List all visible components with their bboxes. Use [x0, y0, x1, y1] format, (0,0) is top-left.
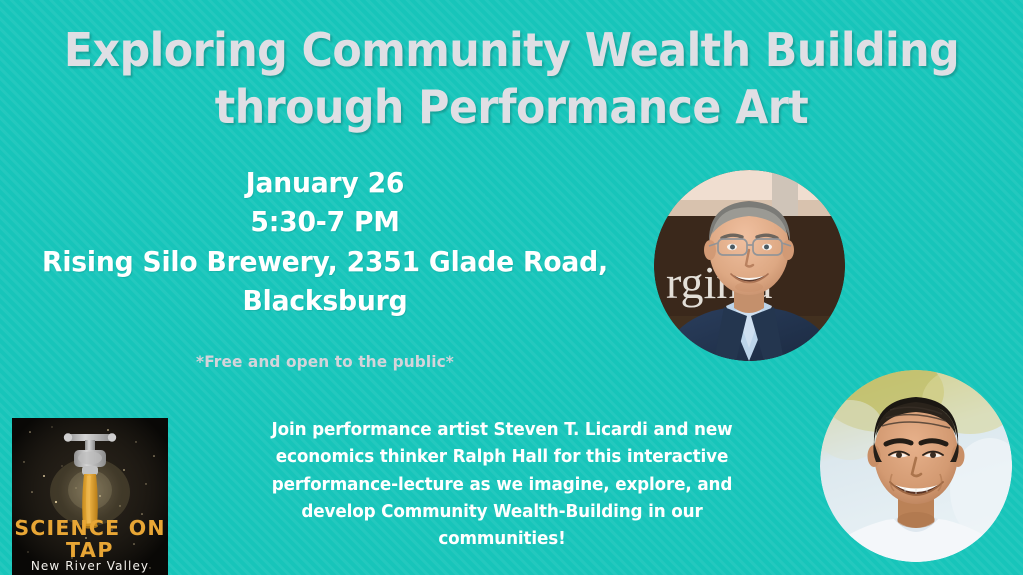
event-venue: Rising Silo Brewery, 2351 Glade Road, [33, 242, 616, 281]
logo-title-line-1: SCIENCE ON [14, 516, 165, 540]
description-line-1: Join performance artist Steven T. Licard… [262, 417, 742, 444]
event-city: Blacksburg [33, 281, 616, 320]
free-admission-notice: *Free and open to the public* [30, 352, 619, 371]
portrait-steven-licardi [820, 370, 1012, 562]
event-flyer: Exploring Community Wealth Building thro… [0, 0, 1023, 575]
logo-science-on-tap: SCIENCE ON TAP New River Valley [12, 418, 168, 575]
description-line-3: performance-lecture as we imagine, explo… [262, 472, 742, 499]
description-line-5: communities! [262, 526, 742, 553]
page-title: Exploring Community Wealth Building thro… [36, 22, 987, 136]
description-line-4: develop Community Wealth-Building in our [262, 499, 742, 526]
event-date: January 26 [33, 163, 616, 202]
event-description: Join performance artist Steven T. Licard… [262, 417, 742, 553]
headline-line-2: through Performance Art [36, 79, 987, 136]
description-line-2: economics thinker Ralph Hall for this in… [262, 444, 742, 471]
event-time: 5:30-7 PM [33, 202, 616, 241]
portrait-ralph-hall: rginia [654, 170, 845, 361]
headline-line-1: Exploring Community Wealth Building [36, 22, 987, 79]
logo-subtitle: New River Valley [31, 559, 149, 573]
event-details: January 26 5:30-7 PM Rising Silo Brewery… [33, 163, 616, 321]
